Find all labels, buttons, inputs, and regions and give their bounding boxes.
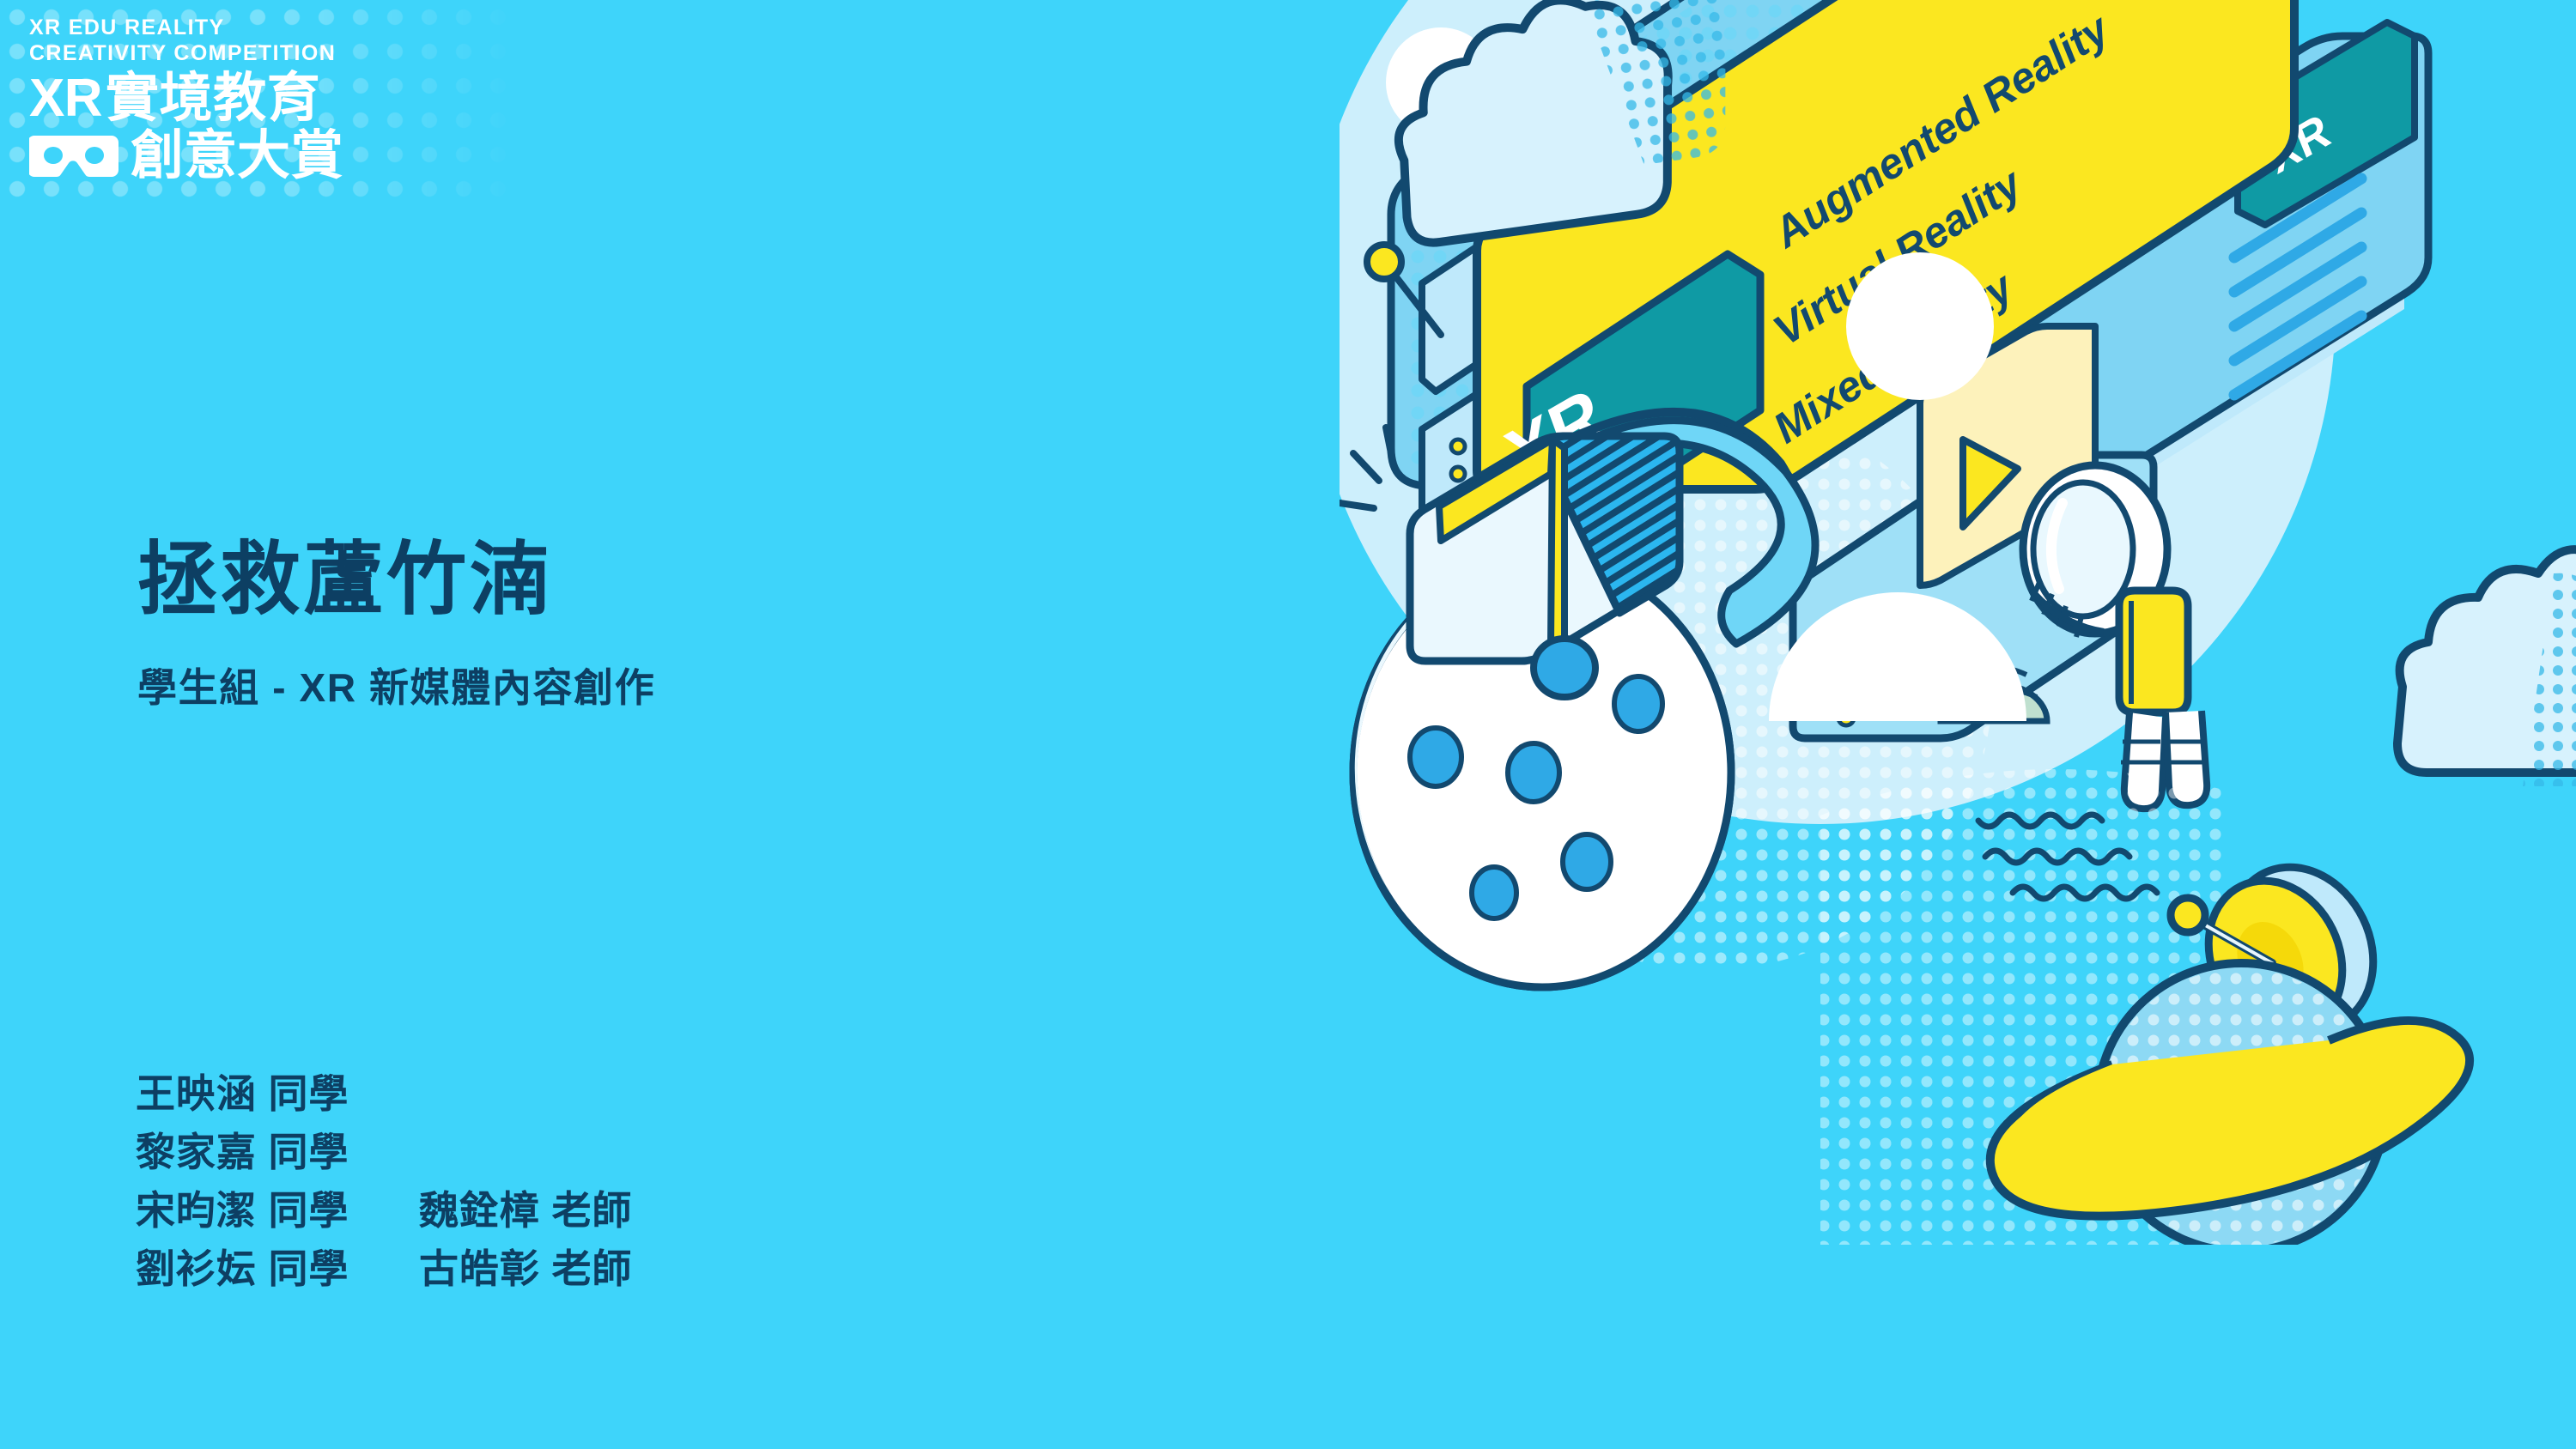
phone-device: XR (1985, 22, 2428, 515)
label-virtual-reality: Virtual Reality (1765, 158, 2031, 355)
logo-xr-text: XR (29, 71, 102, 125)
svg-text:XR: XR (1496, 372, 1613, 501)
logo-cn-line1: XR 實境教育 (29, 71, 476, 125)
logo-eng-line1: XR EDU REALITY (29, 15, 476, 41)
logo-cn-line1-text: 實境教育 (106, 71, 320, 125)
page-title: 拯救蘆竹湳 (137, 538, 553, 622)
dotted-planet (1353, 555, 1731, 987)
cloud (1380, 0, 1745, 246)
saturn-planet (1978, 815, 2470, 1245)
credit-student: 黎家嘉 同學 (136, 1123, 419, 1181)
credit-row: 劉衫妘 同學 古皓彰 老師 (136, 1240, 632, 1298)
logo-eng-line2: CREATIVITY COMPETITION (29, 41, 476, 67)
satellite-dish (2171, 843, 2400, 1135)
vr-goggles-icon (29, 132, 118, 180)
logo-cn-line2-text: 創意大賞 (131, 129, 343, 183)
credit-student: 王映涵 同學 (136, 1064, 419, 1123)
credit-student: 宋昀潔 同學 (136, 1181, 419, 1240)
credit-teacher: 古皓彰 老師 (419, 1240, 632, 1298)
credit-student: 劉衫妘 同學 (136, 1240, 419, 1298)
astronaut (2023, 465, 2207, 809)
slide-canvas: XR XR (0, 0, 2576, 1449)
competition-logo: XR EDU REALITY CREATIVITY COMPETITION XR… (29, 15, 476, 183)
signal-waves (1978, 815, 2157, 899)
tablet-device (1367, 0, 2275, 520)
credit-row: 王映涵 同學 (136, 1064, 632, 1123)
xr-banner-card: XR Augmented Reality Virtual Reality Mix… (1477, 0, 2294, 543)
play-surface (1793, 326, 2154, 738)
credit-row: 黎家嘉 同學 (136, 1123, 632, 1181)
xr-illustration: XR XR (1340, 0, 2576, 1245)
credit-row: 宋昀潔 同學 魏銓樟 老師 (136, 1181, 632, 1240)
credit-teacher: 魏銓樟 老師 (419, 1181, 632, 1240)
svg-text:XR: XR (2262, 104, 2337, 184)
label-augmented-reality: Augmented Reality (1764, 3, 2119, 258)
logo-cn-line2: 創意大賞 (29, 129, 476, 183)
vr-headset (1340, 412, 1815, 697)
label-mixed-reality: Mixed Reality (1765, 262, 2022, 452)
page-subtitle: 學生組 - XR 新媒體內容創作 (137, 657, 655, 713)
credits-list: 王映涵 同學 黎家嘉 同學 宋昀潔 同學 魏銓樟 老師 劉衫妘 同學 古皓彰 老… (136, 1064, 632, 1298)
cloud (2397, 549, 2576, 786)
